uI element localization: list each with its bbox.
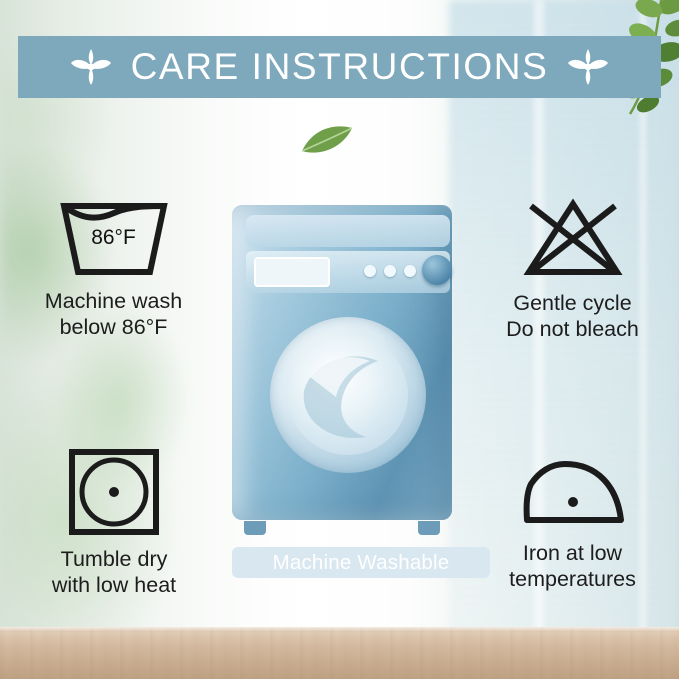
washer-foot [244, 521, 266, 535]
indicator-light [384, 265, 396, 277]
washer-door-glass [288, 335, 408, 455]
care-symbol-label: Iron at low temperatures [509, 540, 636, 592]
indicator-light [404, 265, 416, 277]
laundry-swirl-icon [298, 347, 398, 443]
detergent-tray [254, 257, 330, 287]
crossed-triangle-no-bleach-icon [521, 196, 625, 280]
washer-door [270, 317, 426, 473]
washer-foot [418, 521, 440, 535]
care-symbol-label: Gentle cycle Do not bleach [506, 290, 639, 342]
table-front-edge-highlight [0, 627, 679, 632]
care-symbol-iron: Iron at low temperatures [470, 452, 675, 592]
care-symbol-label: Machine wash below 86°F [45, 288, 182, 340]
care-instructions-card: CARE INSTRUCTIONS 86°F Machine wash belo… [0, 0, 679, 679]
falling-leaf [300, 124, 354, 158]
status-badge-label: Machine Washable [273, 551, 450, 575]
iron-low-temperature-icon [517, 452, 629, 530]
page-title: CARE INSTRUCTIONS [131, 46, 549, 88]
care-symbol-no-bleach: Gentle cycle Do not bleach [470, 196, 675, 342]
status-badge: Machine Washable [232, 547, 490, 578]
wooden-table-surface [0, 627, 679, 679]
washer-body [232, 205, 452, 520]
header-banner: CARE INSTRUCTIONS [18, 36, 661, 98]
fleur-de-lis-icon [566, 47, 610, 87]
fleur-de-lis-icon [69, 47, 113, 87]
care-symbol-tumble-dry: Tumble dry with low heat [8, 446, 220, 598]
wash-temperature-value: 86°F [58, 226, 170, 250]
table-wood-grain [0, 627, 679, 679]
care-symbol-label: Tumble dry with low heat [52, 546, 176, 598]
washer-top-panel [246, 215, 450, 247]
program-dial [422, 255, 452, 285]
washing-machine-illustration [226, 205, 458, 535]
tumble-dry-low-heat-icon [66, 446, 162, 538]
care-symbol-machine-wash: 86°F Machine wash below 86°F [6, 196, 221, 340]
indicator-light [364, 265, 376, 277]
